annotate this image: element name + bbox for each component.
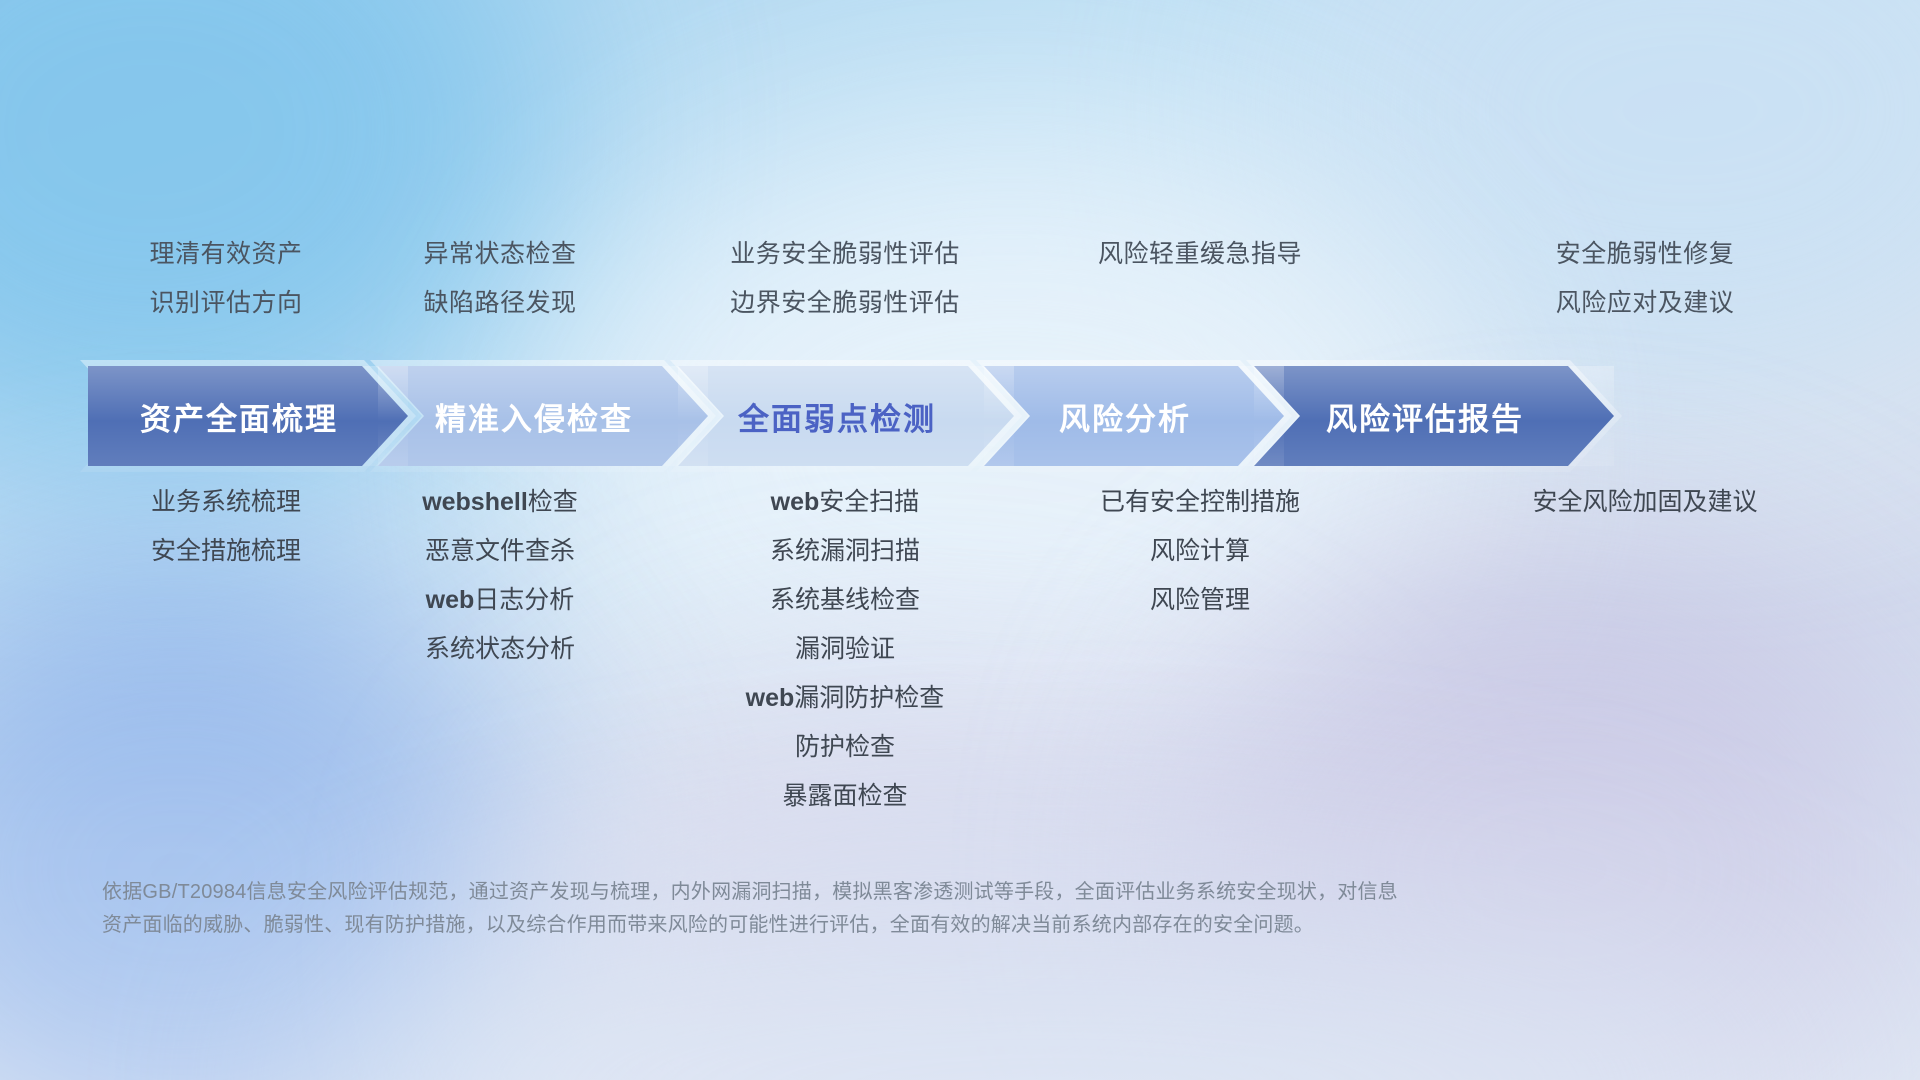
list-item: 系统漏洞扫描 [650,527,1040,576]
footer-line-1: 依据GB/T20984信息安全风险评估规范，通过资产发现与梳理，内外网漏洞扫描，… [102,876,1742,909]
chevron-assessment-report[interactable]: 风险评估报告 [1254,366,1614,466]
list-item-zh: 日志分析 [474,586,574,614]
list-item: 风险计算 [1030,527,1370,576]
top-notes-intrusion-check: 异常状态检查缺陷路径发现 [340,230,660,328]
list-item: web漏洞防护检查 [650,674,1040,723]
chevron-label-risk-analysis: 风险分析 [1059,394,1191,439]
process-chevron-bar: 资产全面梳理精准入侵检查全面弱点检测风险分析风险评估报告 [0,366,1920,466]
list-item: 风险管理 [1030,576,1370,625]
note-line: 业务安全脆弱性评估 [650,230,1040,279]
list-item-zh: 安全风险加固及建议 [1532,488,1757,516]
list-item-zh: 系统状态分析 [425,635,575,663]
top-notes-risk-analysis: 风险轻重缓急指导 [1030,230,1370,328]
list-item: 安全风险加固及建议 [1370,478,1920,527]
footer-description: 依据GB/T20984信息安全风险评估规范，通过资产发现与梳理，内外网漏洞扫描，… [102,876,1742,942]
list-item-zh: 安全扫描 [819,488,919,516]
glow-top-right [1280,0,1920,420]
list-item-zh: 检查 [528,488,578,516]
stage-detail-row: 业务系统梳理安全措施梳理webshell检查恶意文件查杀web日志分析系统状态分… [0,478,1920,821]
chevron-asset-inventory[interactable]: 资产全面梳理 [88,366,408,466]
chevron-risk-analysis[interactable]: 风险分析 [984,366,1284,466]
list-item: 已有安全控制措施 [1030,478,1370,527]
note-line: 边界安全脆弱性评估 [650,279,1040,328]
list-item-en: web [426,586,475,614]
details-weakness-detection: web安全扫描系统漏洞扫描系统基线检查漏洞验证web漏洞防护检查防护检查暴露面检… [650,478,1040,821]
list-item-zh: 漏洞验证 [795,635,895,663]
note-line: 安全脆弱性修复 [1370,230,1920,279]
details-risk-analysis: 已有安全控制措施风险计算风险管理 [1030,478,1370,625]
list-item: web安全扫描 [650,478,1040,527]
list-item-zh: 系统基线检查 [770,586,920,614]
list-item-zh: 暴露面检查 [782,782,907,810]
list-item-zh: 系统漏洞扫描 [770,537,920,565]
list-item-zh: 安全措施梳理 [151,537,301,565]
list-item-zh: 已有安全控制措施 [1100,488,1300,516]
note-line: 缺陷路径发现 [340,279,660,328]
list-item-zh: 风险计算 [1150,537,1250,565]
footer-line-2: 资产面临的威胁、脆弱性、现有防护措施，以及综合作用而带来风险的可能性进行评估，全… [102,909,1742,942]
top-notes-assessment-report: 安全脆弱性修复风险应对及建议 [1370,230,1920,328]
list-item: webshell检查 [340,478,660,527]
list-item-en: webshell [422,488,528,516]
list-item-en: web [746,684,795,712]
chevron-label-weakness-detection: 全面弱点检测 [738,394,936,439]
details-assessment-report: 安全风险加固及建议 [1370,478,1920,527]
chevron-weakness-detection[interactable]: 全面弱点检测 [678,366,1014,466]
slide-canvas: 理清有效资产识别评估方向异常状态检查缺陷路径发现业务安全脆弱性评估边界安全脆弱性… [0,0,1920,1080]
list-item: 系统基线检查 [650,576,1040,625]
list-item-en: web [771,488,820,516]
details-intrusion-check: webshell检查恶意文件查杀web日志分析系统状态分析 [340,478,660,674]
list-item-zh: 恶意文件查杀 [425,537,575,565]
list-item-zh: 防护检查 [795,733,895,761]
chevron-intrusion-check[interactable]: 精准入侵检查 [378,366,708,466]
note-line: 风险轻重缓急指导 [1030,230,1370,279]
top-notes-row: 理清有效资产识别评估方向异常状态检查缺陷路径发现业务安全脆弱性评估边界安全脆弱性… [0,230,1920,328]
chevron-label-assessment-report: 风险评估报告 [1326,394,1524,439]
list-item: 恶意文件查杀 [340,527,660,576]
list-item: 暴露面检查 [650,772,1040,821]
note-line: 异常状态检查 [340,230,660,279]
list-item-zh: 业务系统梳理 [151,488,301,516]
top-notes-weakness-detection: 业务安全脆弱性评估边界安全脆弱性评估 [650,230,1040,328]
list-item-zh: 漏洞防护检查 [794,684,944,712]
list-item: web日志分析 [340,576,660,625]
list-item: 系统状态分析 [340,625,660,674]
note-line: 风险应对及建议 [1370,279,1920,328]
list-item: 防护检查 [650,723,1040,772]
list-item-zh: 风险管理 [1150,586,1250,614]
list-item: 漏洞验证 [650,625,1040,674]
chevron-label-intrusion-check: 精准入侵检查 [435,394,633,439]
chevron-label-asset-inventory: 资产全面梳理 [140,394,338,439]
